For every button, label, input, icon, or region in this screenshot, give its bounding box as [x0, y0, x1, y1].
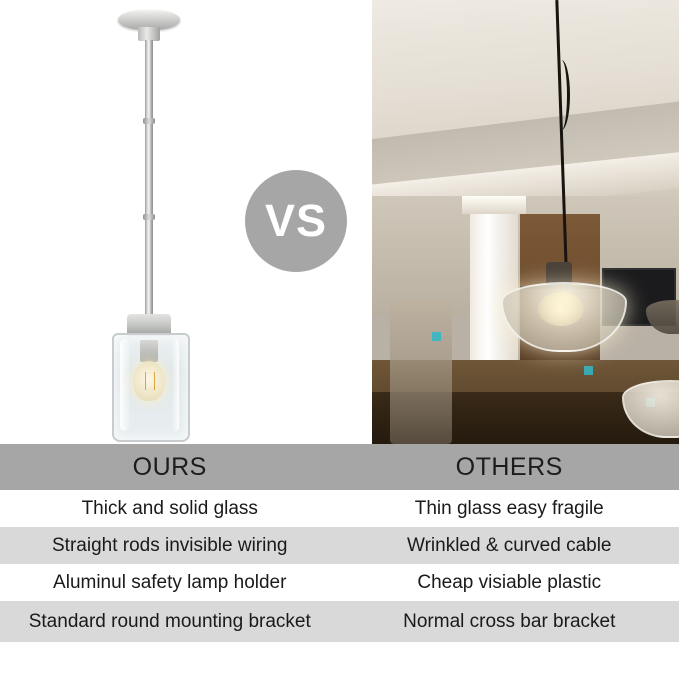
- header-others: OTHERS: [340, 453, 679, 482]
- teal-accent-2: [584, 366, 593, 375]
- secondary-pendant-far: [646, 300, 679, 334]
- others-product-image: [370, 0, 679, 444]
- cell-others-4: Normal cross bar bracket: [340, 611, 679, 633]
- cell-others-2: Wrinkled & curved cable: [340, 535, 679, 557]
- teal-accent-1: [432, 332, 441, 341]
- cord-kink: [553, 60, 570, 130]
- cell-ours-4: Standard round mounting bracket: [0, 611, 340, 633]
- rod-joint-upper: [143, 118, 155, 124]
- column-cap: [462, 196, 526, 214]
- filament: [145, 372, 155, 390]
- glass-highlight-right: [172, 339, 179, 431]
- table-header-row: OURS OTHERS: [0, 444, 679, 490]
- downrod: [145, 40, 153, 320]
- cell-others-3: Cheap visiable plastic: [340, 572, 679, 594]
- table-row: Thick and solid glass Thin glass easy fr…: [0, 490, 679, 527]
- vs-badge: VS: [245, 170, 347, 272]
- bulb-glow: [538, 292, 584, 326]
- cell-ours-2: Straight rods invisible wiring: [0, 535, 340, 557]
- table-row: Aluminul safety lamp holder Cheap visiab…: [0, 564, 679, 601]
- background-furniture: [390, 300, 452, 444]
- canopy-neck: [138, 27, 160, 41]
- glass-highlight-left: [120, 339, 130, 431]
- table-row: Straight rods invisible wiring Wrinkled …: [0, 527, 679, 564]
- table-row: Standard round mounting bracket Normal c…: [0, 601, 679, 642]
- cell-ours-3: Aluminul safety lamp holder: [0, 572, 340, 594]
- rod-joint-lower: [143, 214, 155, 220]
- comparison-table: OURS OTHERS Thick and solid glass Thin g…: [0, 444, 679, 679]
- header-ours: OURS: [0, 453, 340, 482]
- panel-divider: [370, 0, 372, 444]
- photo-row: VS: [0, 0, 679, 444]
- cell-others-1: Thin glass easy fragile: [340, 498, 679, 520]
- comparison-infographic: VS OURS OTHERS Thick and solid glass Thi…: [0, 0, 679, 679]
- cell-ours-1: Thick and solid glass: [0, 498, 340, 520]
- bulb-base: [140, 340, 158, 362]
